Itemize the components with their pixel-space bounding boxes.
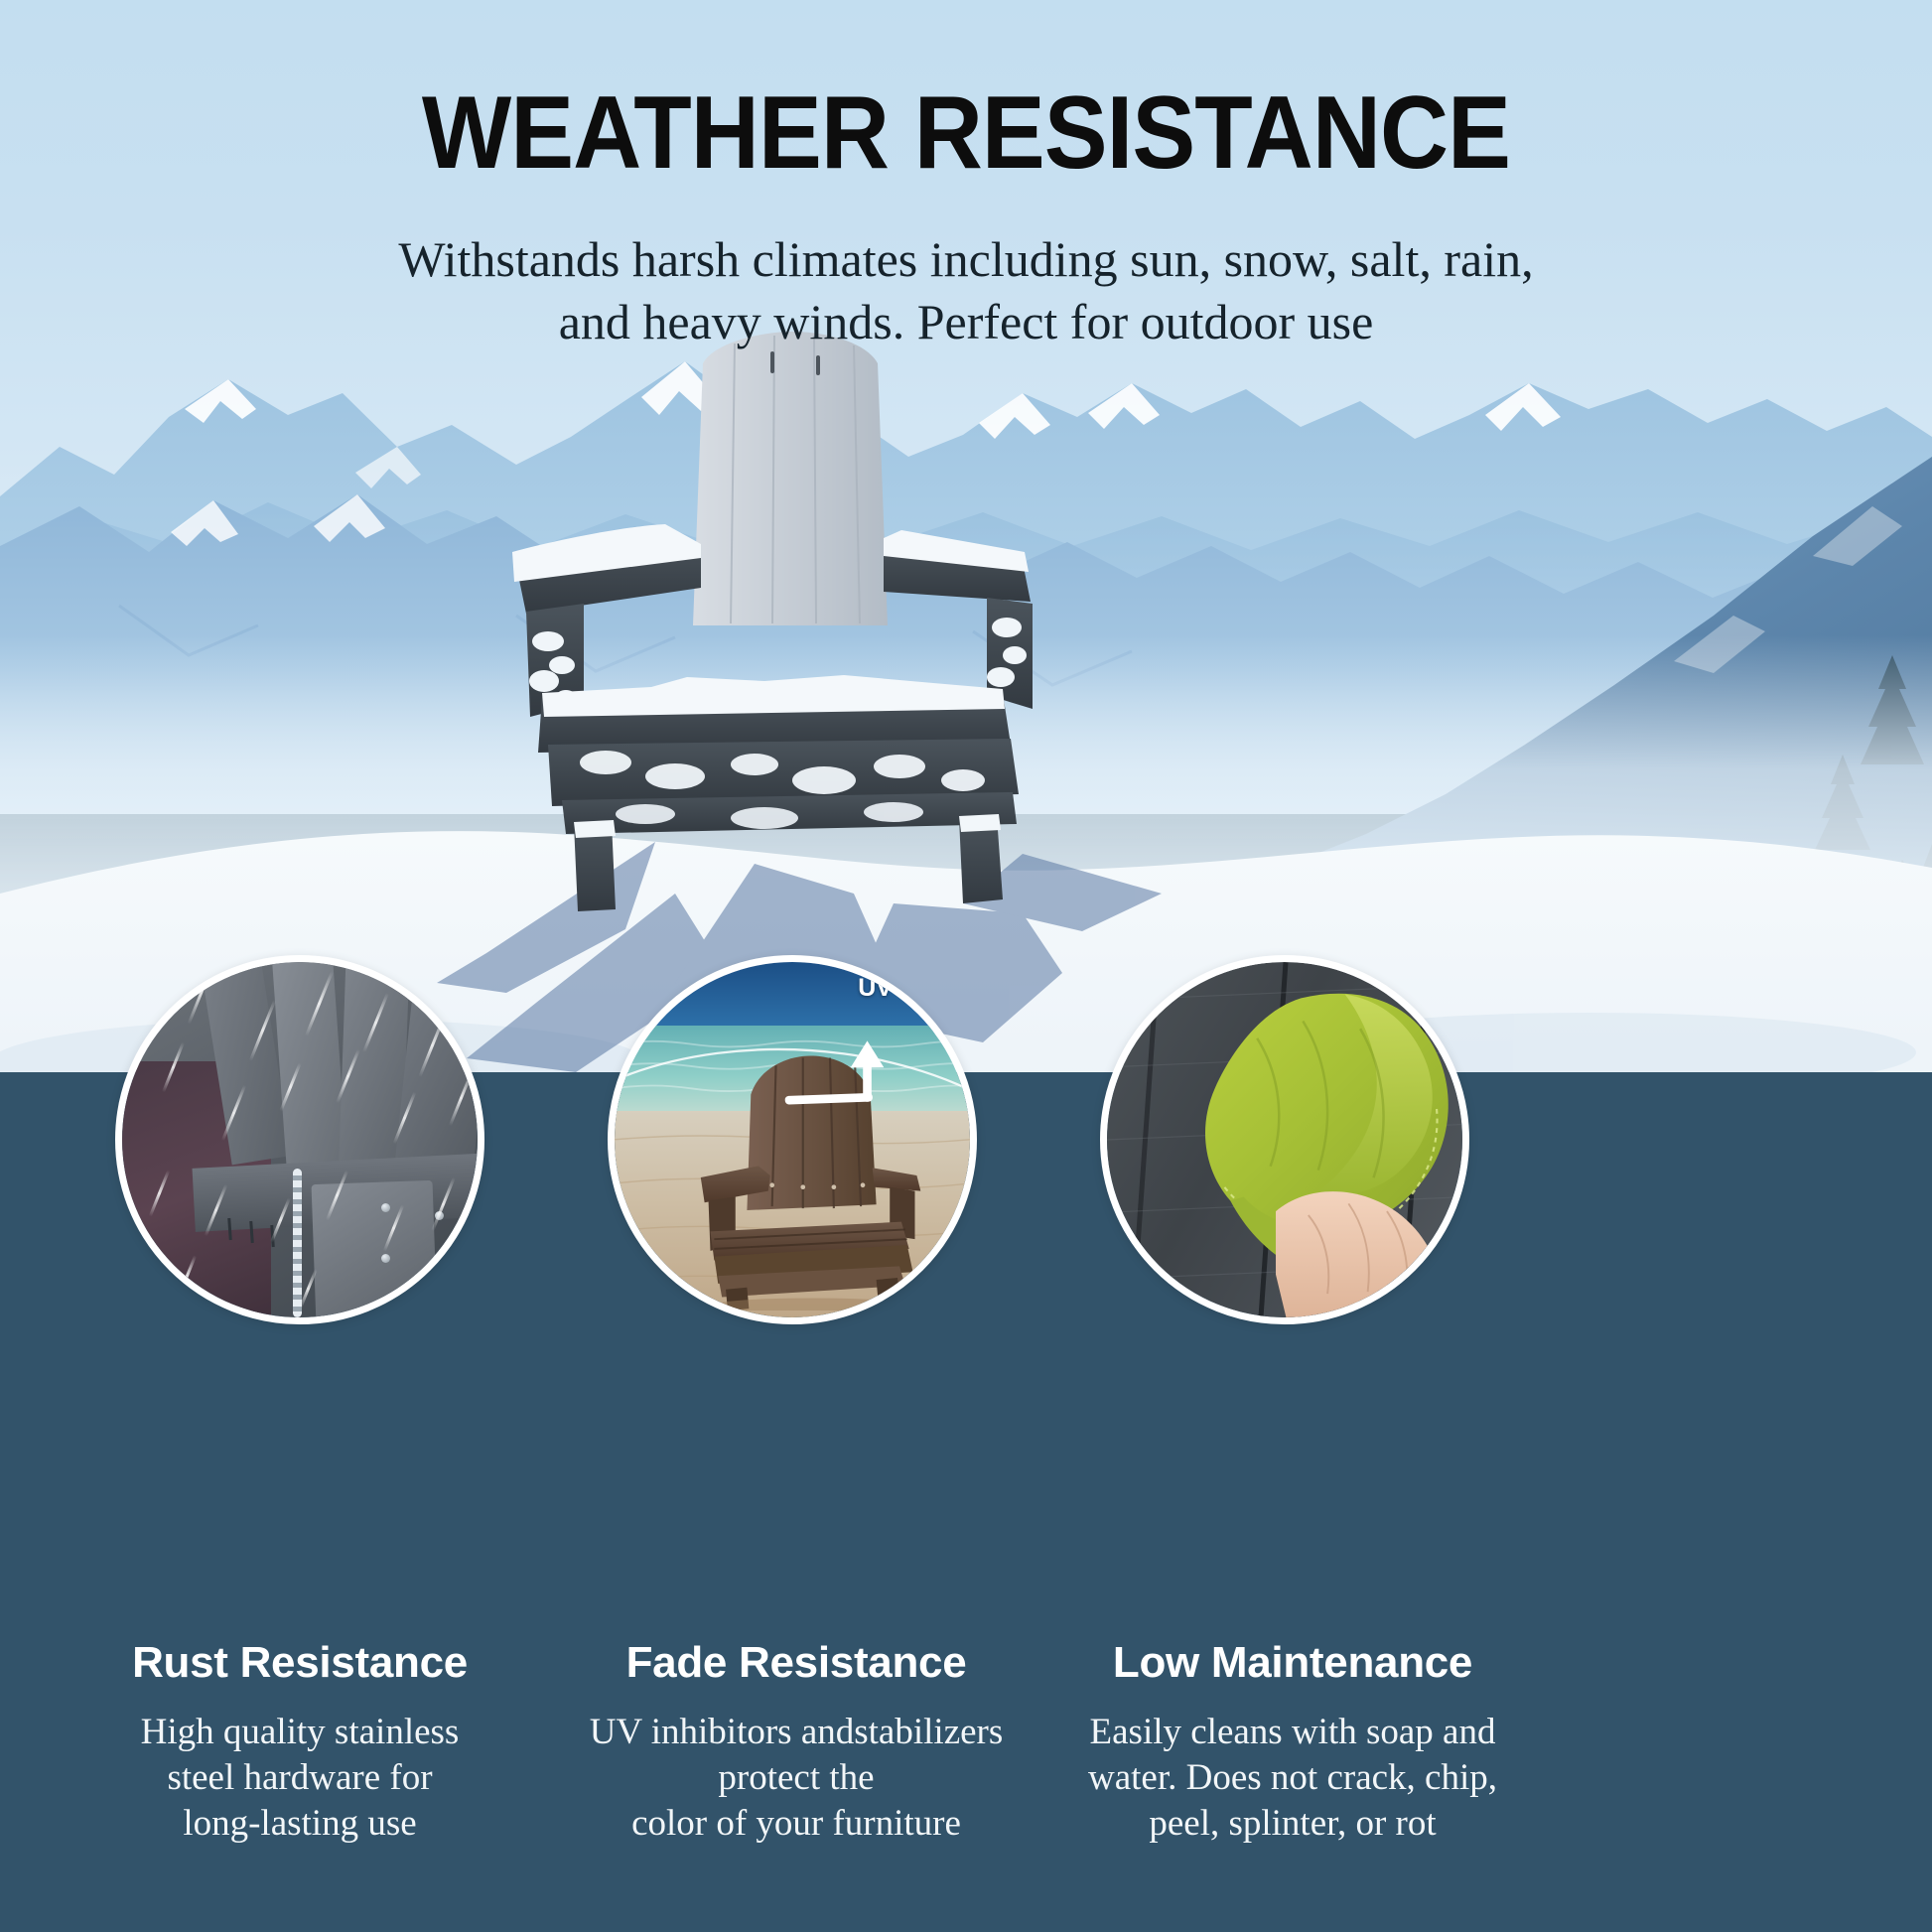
adirondack-chair-snow: [467, 328, 1082, 923]
feature-image-fade-resistance: UV Light: [608, 955, 977, 1324]
feature-body-low-maintenance: Easily cleans with soap and water. Does …: [1015, 1710, 1571, 1847]
feature-block-low-maintenance: Low Maintenance Easily cleans with soap …: [1015, 1638, 1571, 1847]
feature-title-rust-resistance: Rust Resistance: [22, 1638, 578, 1688]
page-title: WEATHER RESISTANCE: [77, 79, 1855, 188]
feature-block-fade-resistance: Fade Resistance UV inhibitors andstabili…: [518, 1638, 1074, 1847]
feature-body-fade-resistance: UV inhibitors andstabilizers protect the…: [518, 1710, 1074, 1847]
feature-body-line: UV inhibitors andstabilizers: [518, 1710, 1074, 1755]
feature-body-line: color of your furniture: [518, 1801, 1074, 1847]
page-subtitle: Withstands harsh climates including sun,…: [271, 228, 1661, 352]
subtitle-line-1: Withstands harsh climates including sun,…: [398, 231, 1533, 287]
feature-image-rust-resistance: [115, 955, 484, 1324]
feature-body-line: High quality stainless: [22, 1710, 578, 1755]
feature-body-line: steel hardware for: [22, 1755, 578, 1801]
feature-body-line: long-lasting use: [22, 1801, 578, 1847]
feature-body-rust-resistance: High quality stainless steel hardware fo…: [22, 1710, 578, 1847]
feature-title-low-maintenance: Low Maintenance: [1015, 1638, 1571, 1688]
subtitle-line-2: and heavy winds. Perfect for outdoor use: [271, 291, 1661, 353]
feature-image-low-maintenance: [1100, 955, 1469, 1324]
feature-body-line: water. Does not crack, chip,: [1015, 1755, 1571, 1801]
feature-body-line: peel, splinter, or rot: [1015, 1801, 1571, 1847]
feature-body-line: Easily cleans with soap and: [1015, 1710, 1571, 1755]
uv-light-label: UV Light: [858, 974, 960, 1003]
feature-title-fade-resistance: Fade Resistance: [518, 1638, 1074, 1688]
infographic-canvas: WEATHER RESISTANCE Withstands harsh clim…: [0, 0, 1932, 1932]
feature-body-line: protect the: [518, 1755, 1074, 1801]
feature-block-rust-resistance: Rust Resistance High quality stainless s…: [22, 1638, 578, 1847]
